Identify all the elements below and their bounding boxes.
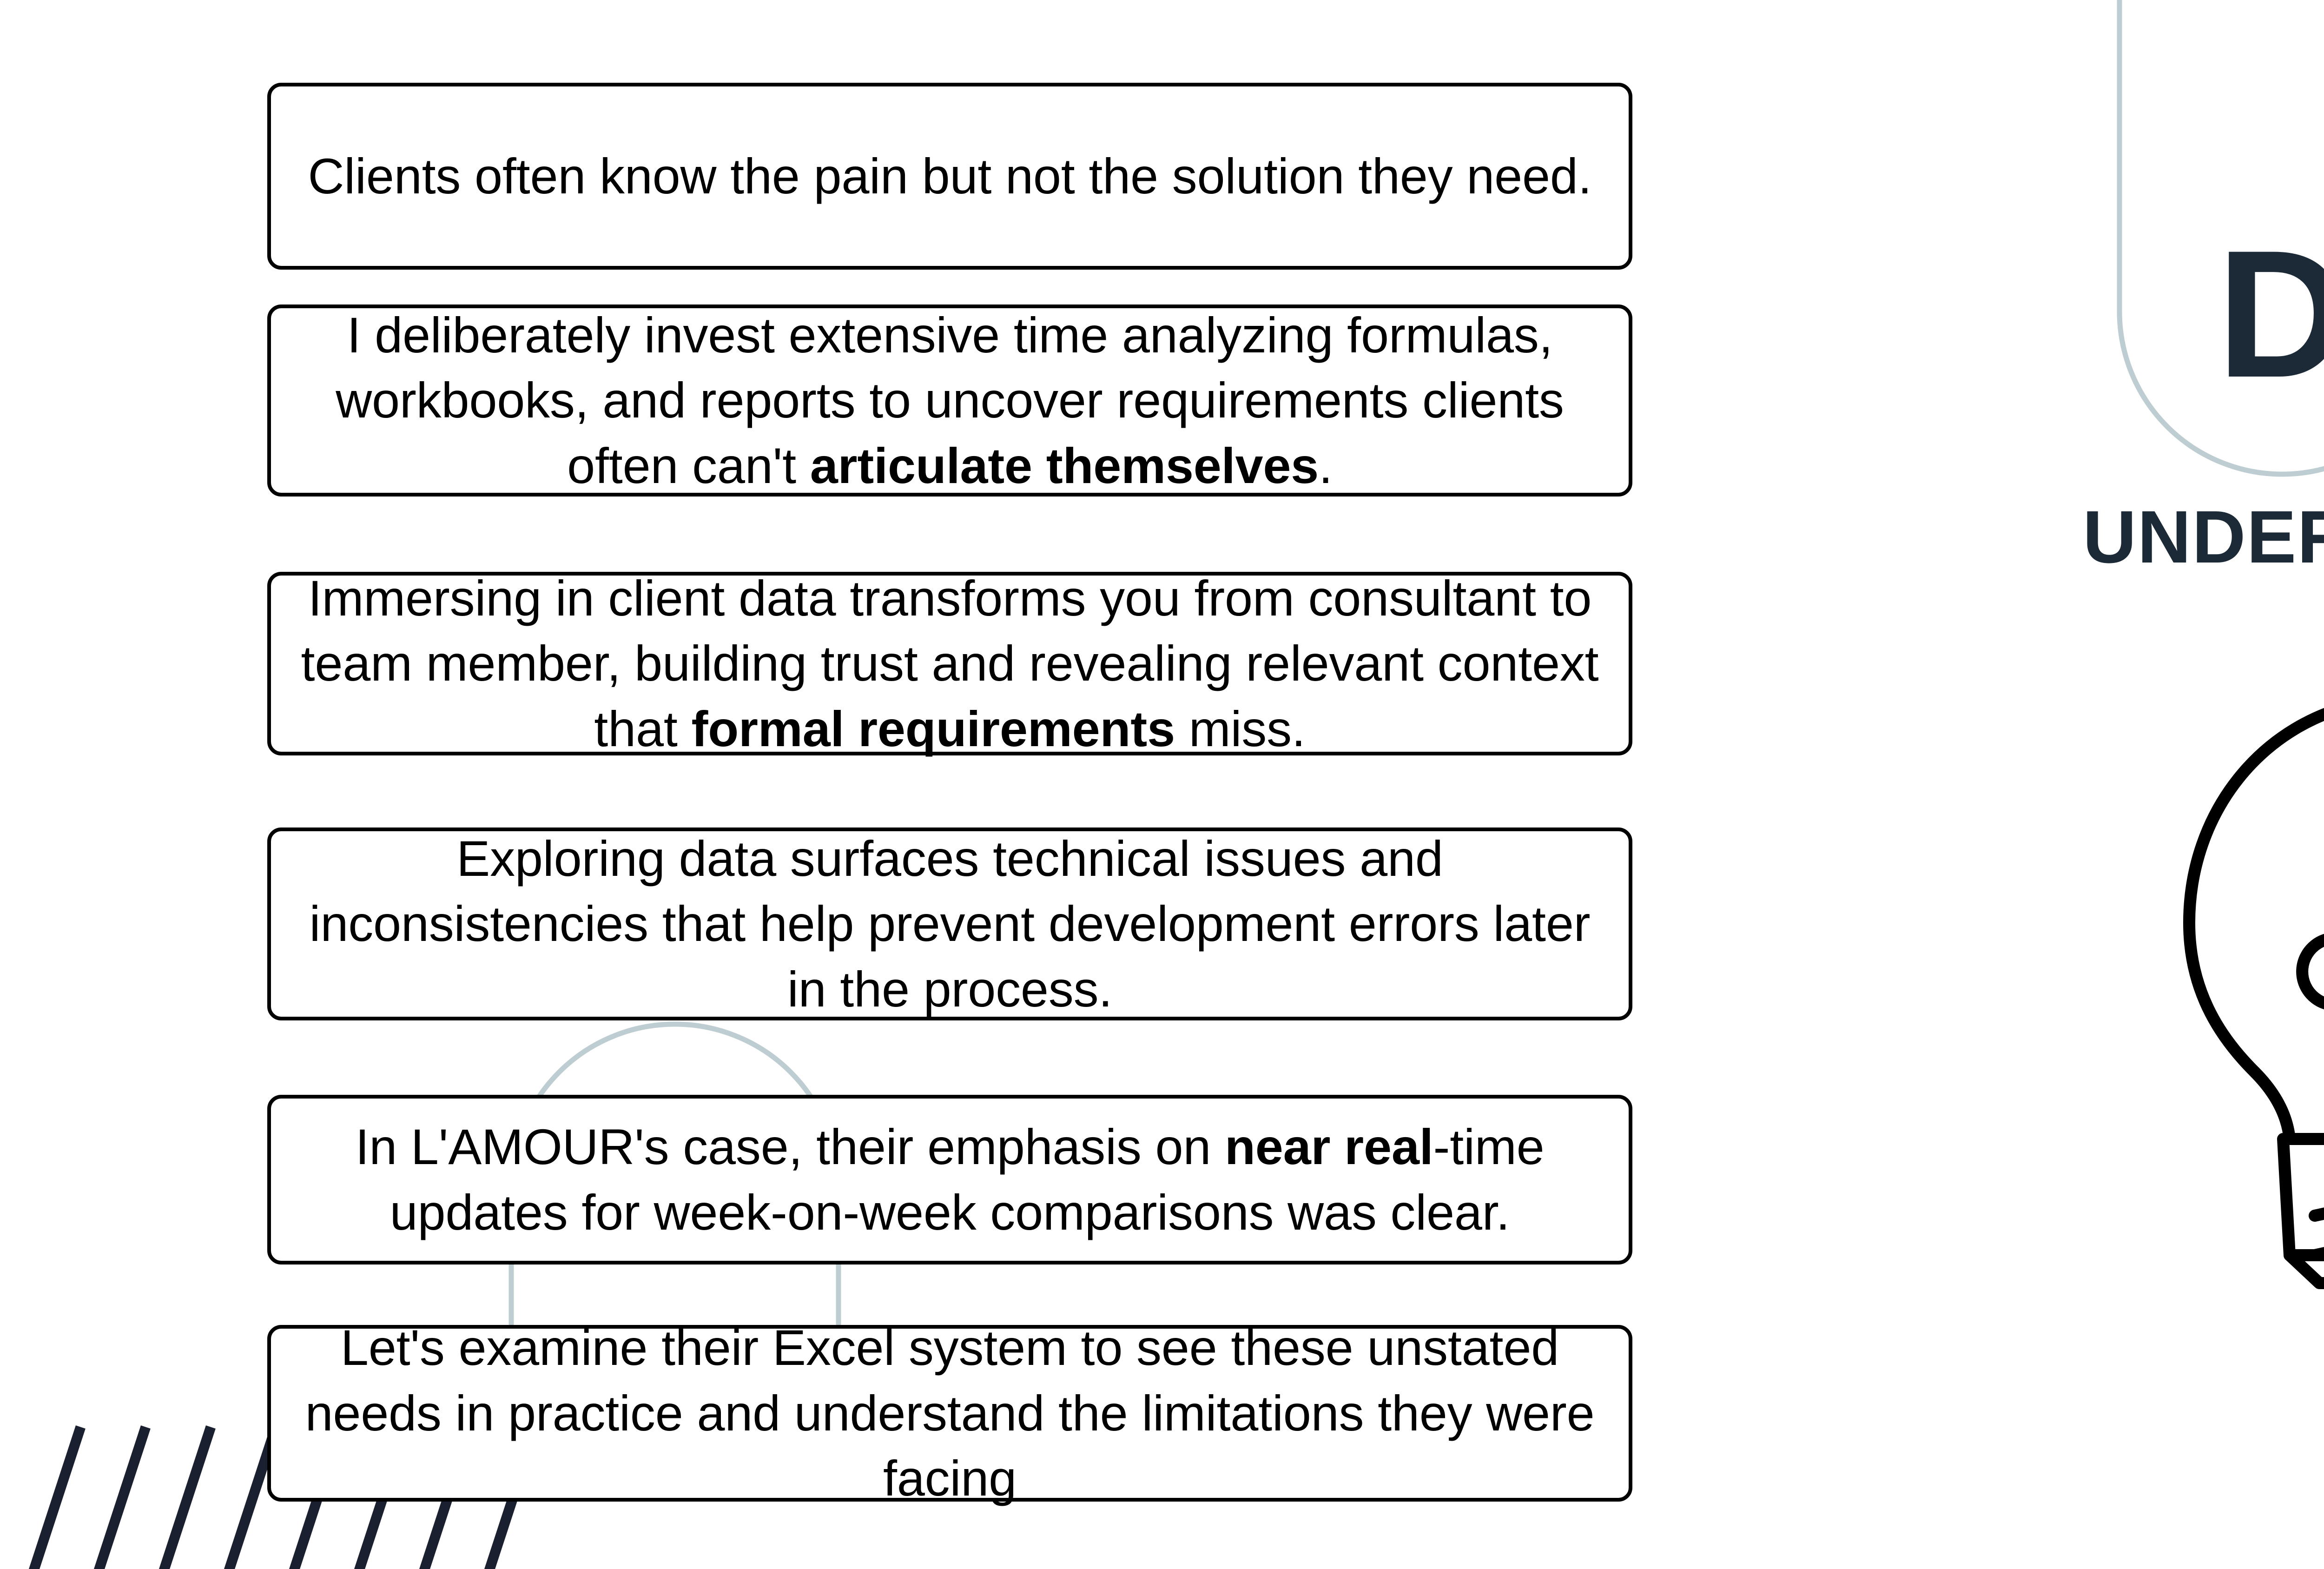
lightbulb-puzzle-icon bbox=[2180, 651, 2324, 1376]
statement-box: I deliberately invest extensive time ana… bbox=[267, 305, 1632, 497]
statement-text: Let's examine their Excel system to see … bbox=[297, 1315, 1603, 1511]
statement-box: In L'AMOUR's case, their emphasis on nea… bbox=[267, 1095, 1632, 1264]
statement-text: Immersing in client data transforms you … bbox=[297, 566, 1603, 761]
phase-panel: D UNDERSTAND bbox=[2036, 0, 2324, 1569]
phase-badge: D bbox=[2106, 0, 2324, 493]
statement-text: In L'AMOUR's case, their emphasis on nea… bbox=[297, 1114, 1603, 1245]
statement-text: Exploring data surfaces technical issues… bbox=[297, 826, 1603, 1022]
statement-box: Exploring data surfaces technical issues… bbox=[267, 828, 1632, 1020]
slide-canvas: Clients often know the pain but not the … bbox=[0, 0, 2324, 1569]
phase-letter: D bbox=[2106, 0, 2324, 493]
statement-box: Clients often know the pain but not the … bbox=[267, 83, 1632, 270]
statement-text: Clients often know the pain but not the … bbox=[297, 144, 1603, 209]
statement-box-list: Clients often know the pain but not the … bbox=[0, 0, 2324, 1569]
statement-box: Let's examine their Excel system to see … bbox=[267, 1325, 1632, 1502]
statement-box: Immersing in client data transforms you … bbox=[267, 572, 1632, 755]
statement-text: I deliberately invest extensive time ana… bbox=[297, 303, 1603, 498]
phase-label: UNDERSTAND bbox=[2036, 500, 2324, 574]
